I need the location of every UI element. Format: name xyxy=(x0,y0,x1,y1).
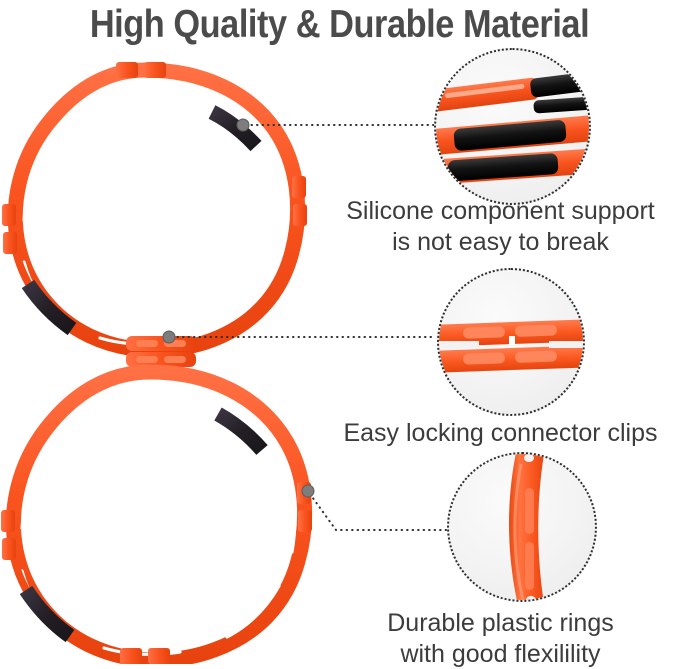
silicone-support-section xyxy=(218,414,262,450)
callout-bubble-silicone-support xyxy=(434,48,591,205)
caption-plastic-rings: Durable plastic rings with good flexilil… xyxy=(322,608,679,669)
callout-bubble-connector-clips xyxy=(437,268,585,416)
product-illustration xyxy=(0,52,340,664)
ring-lower-clips xyxy=(1,482,312,664)
ring-upper-slots xyxy=(24,83,287,344)
plastic-ring-detail xyxy=(449,454,595,600)
silicone-support-section xyxy=(212,112,256,146)
caption-connector-clips: Easy locking connector clips xyxy=(322,418,679,449)
page-title: High Quality & Durable Material xyxy=(41,2,639,48)
product-infographic: High Quality & Durable Material xyxy=(0,0,679,669)
rings-svg xyxy=(0,52,340,664)
caption-silicone-support: Silicone component support is not easy t… xyxy=(322,196,679,258)
ring-lower xyxy=(1,372,312,664)
silicone-support-section xyxy=(26,590,70,636)
connector-clip-detail xyxy=(439,270,583,414)
callout-bubble-plastic-rings xyxy=(447,452,597,602)
silicone-support-detail xyxy=(436,50,589,203)
silicone-support-section xyxy=(28,284,72,329)
ring-upper-clips xyxy=(2,62,307,254)
ring-lower-slots xyxy=(22,385,295,654)
ring-upper xyxy=(2,62,307,350)
